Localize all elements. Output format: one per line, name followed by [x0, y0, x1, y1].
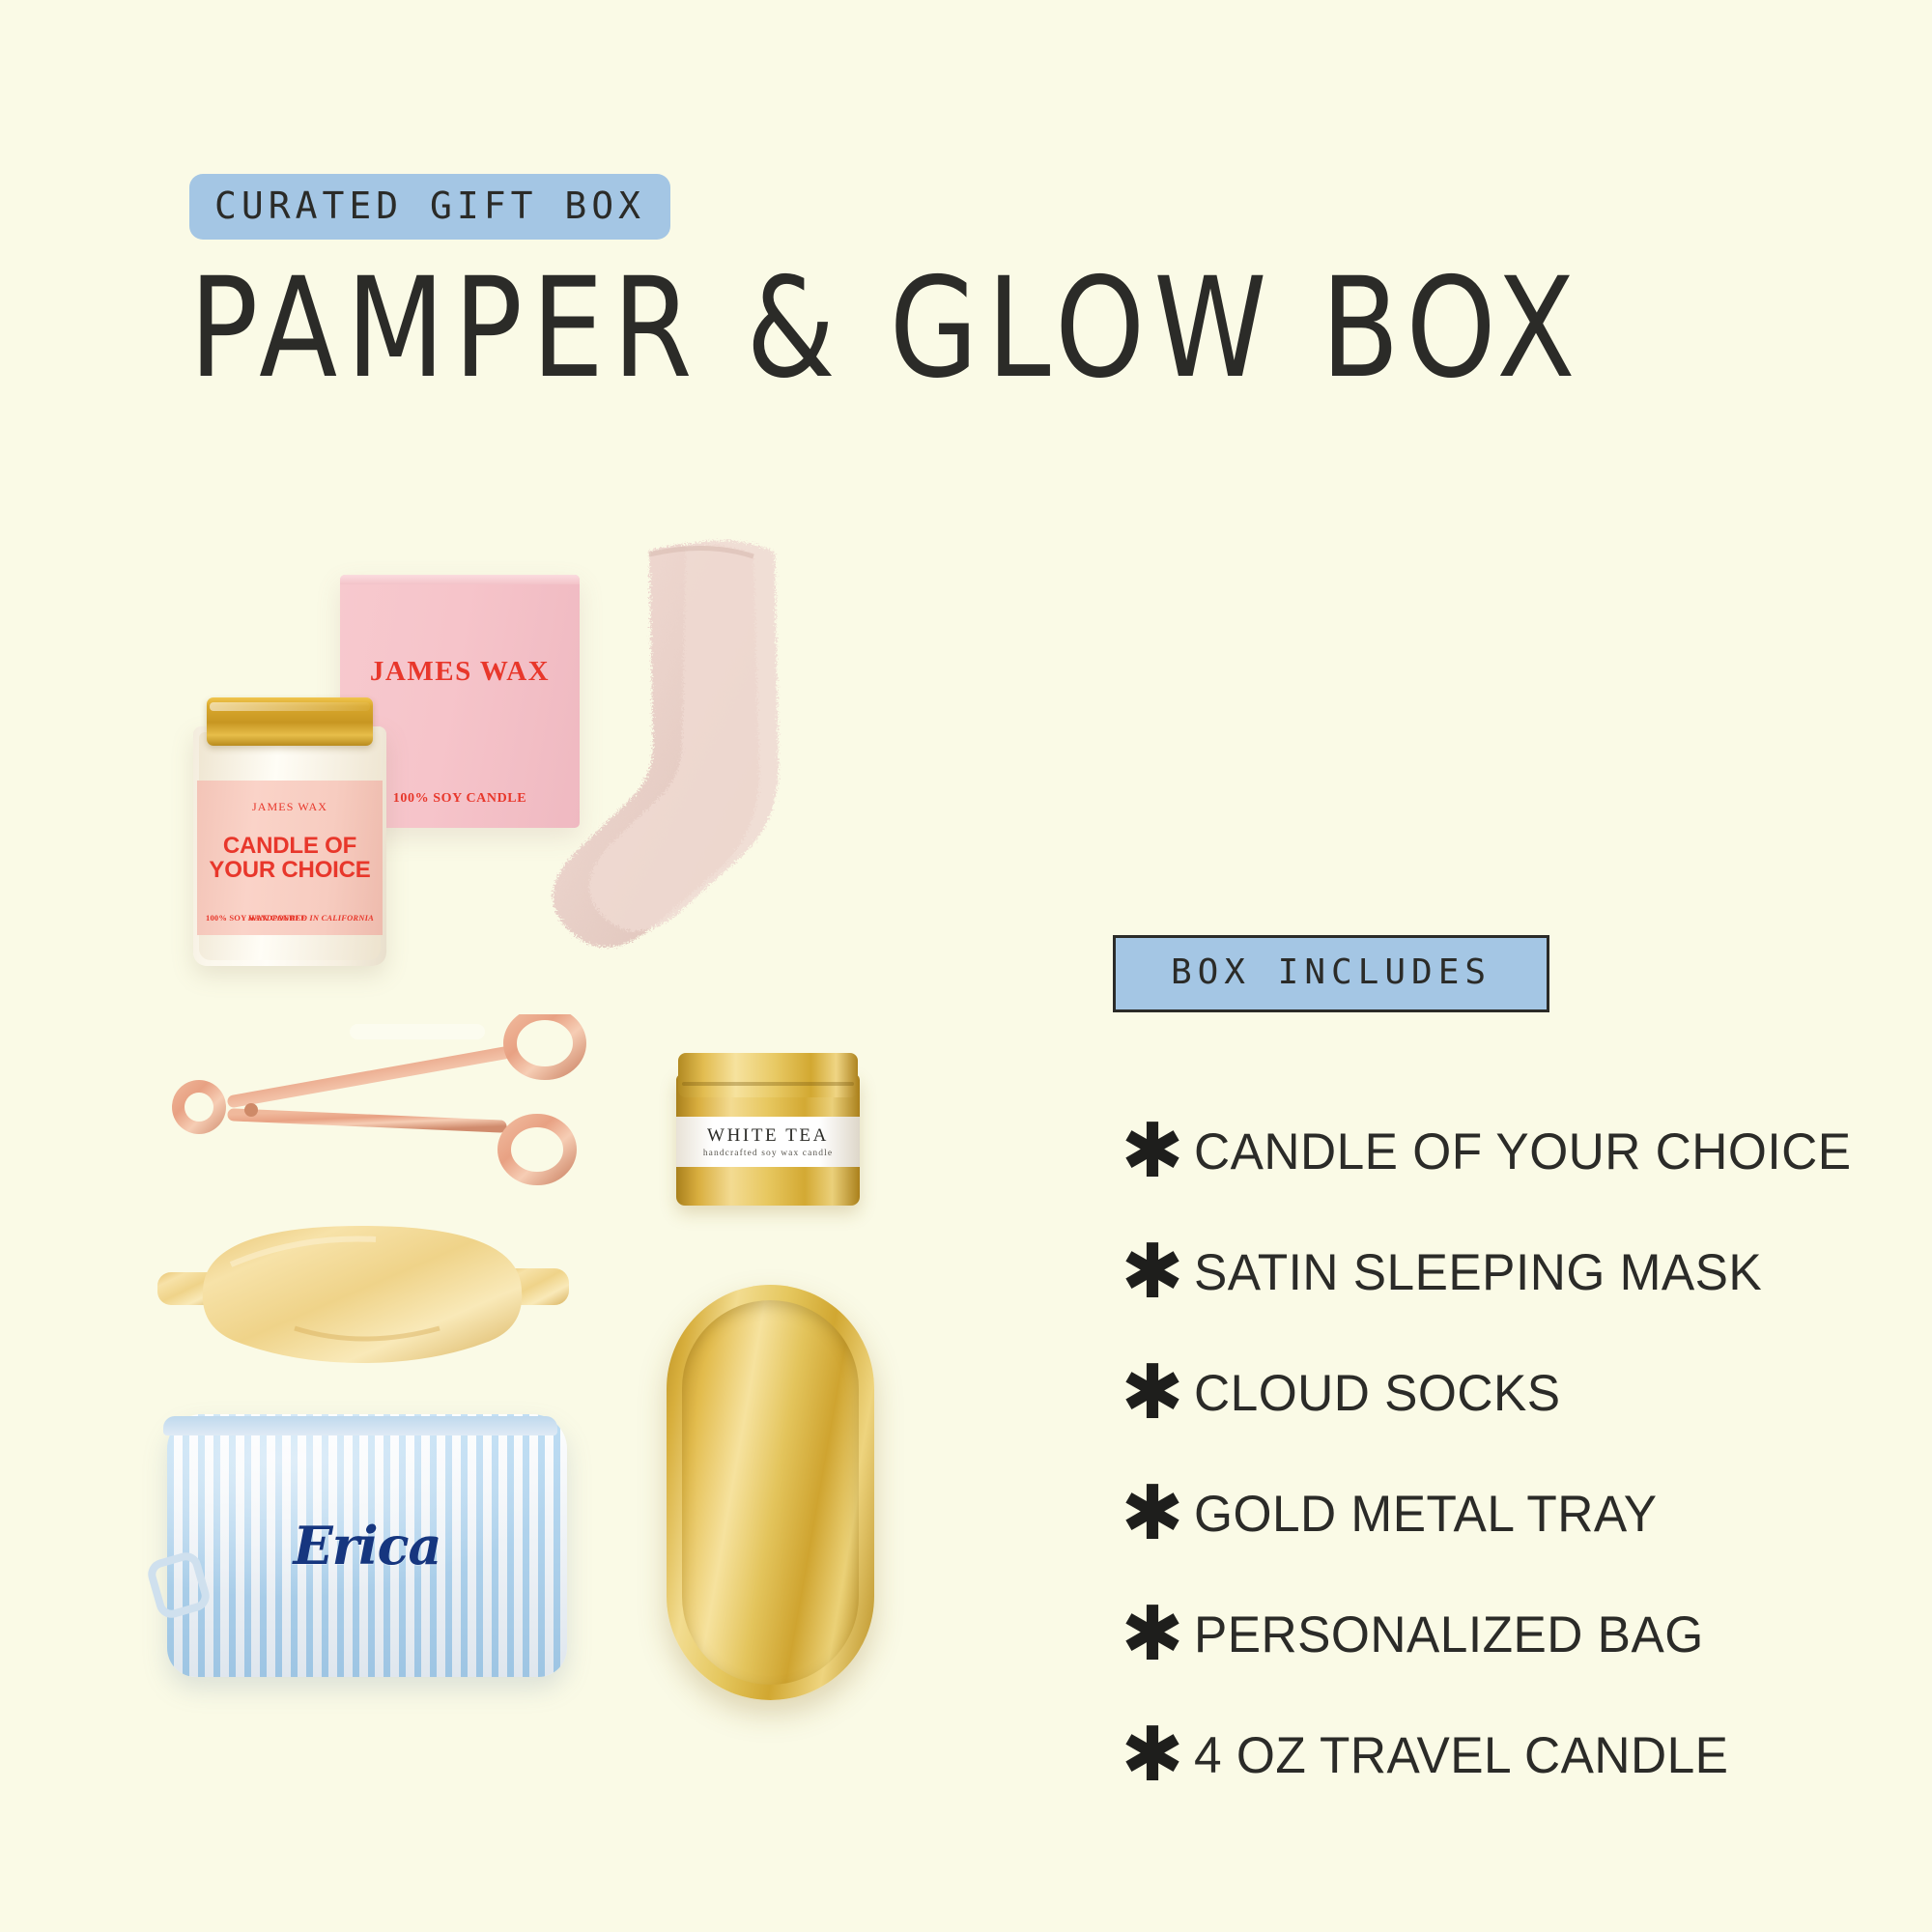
asterisk-icon: ✱: [1111, 1129, 1194, 1175]
tin-subtitle: handcrafted soy wax candle: [676, 1149, 860, 1158]
list-item-label: CLOUD SOCKS: [1194, 1364, 1561, 1423]
list-item-label: 4 OZ TRAVEL CANDLE: [1194, 1726, 1728, 1785]
tin-lid: [678, 1053, 858, 1097]
bag-embroidered-name: Erica: [150, 1515, 584, 1577]
tray-inner-well: [682, 1300, 859, 1685]
wick-trimmer-image: [145, 1014, 609, 1207]
list-item-label: SATIN SLEEPING MASK: [1194, 1243, 1762, 1302]
asterisk-icon: ✱: [1111, 1492, 1194, 1537]
jar-headline-line1: CANDLE OF: [223, 833, 356, 859]
personalized-bag-image: Erica: [150, 1401, 584, 1690]
eyebrow-badge: CURATED GIFT BOX: [189, 174, 670, 240]
list-item-label: CANDLE OF YOUR CHOICE: [1194, 1122, 1852, 1181]
box-includes-list: ✱ CANDLE OF YOUR CHOICE ✱ SATIN SLEEPING…: [1111, 1092, 1884, 1816]
jar-footnote-right: HANDPOURED IN CALIFORNIA: [248, 913, 374, 923]
tin-scent-name: WHITE TEA: [676, 1125, 860, 1147]
list-item-label: GOLD METAL TRAY: [1194, 1485, 1658, 1544]
list-item: ✱ CLOUD SOCKS: [1111, 1333, 1884, 1454]
tray-outer: [667, 1285, 874, 1700]
page-title: PAMPER & GLOW BOX: [189, 259, 1584, 397]
sleep-mask-illustration: [150, 1212, 575, 1367]
wick-trimmer-illustration: [145, 1014, 609, 1207]
list-item: ✱ 4 OZ TRAVEL CANDLE: [1111, 1695, 1884, 1816]
jar-label-headline: CANDLE OF YOUR CHOICE: [197, 834, 383, 883]
jar-headline-line2: YOUR CHOICE: [209, 857, 370, 883]
candle-jar: JAMES WAX CANDLE OF YOUR CHOICE 100% SOY…: [193, 676, 386, 966]
cloud-socks-image: [541, 522, 850, 1063]
gold-tray-image: [667, 1285, 874, 1700]
poster-canvas: CURATED GIFT BOX PAMPER & GLOW BOX JAMES…: [0, 0, 1932, 1932]
asterisk-icon: ✱: [1111, 1371, 1194, 1416]
asterisk-icon: ✱: [1111, 1250, 1194, 1295]
list-item: ✱ CANDLE OF YOUR CHOICE: [1111, 1092, 1884, 1212]
travel-candle-tin: WHITE TEA handcrafted soy wax candle: [676, 1053, 860, 1207]
list-item-label: PERSONALIZED BAG: [1194, 1605, 1704, 1664]
box-includes-badge: BOX INCLUDES: [1113, 935, 1549, 1012]
tin-label: WHITE TEA handcrafted soy wax candle: [676, 1117, 860, 1167]
jar-label-brand: JAMES WAX: [197, 800, 383, 814]
jar-gold-lid: [207, 697, 373, 746]
bag-zipper: [163, 1416, 557, 1435]
list-item: ✱ SATIN SLEEPING MASK: [1111, 1212, 1884, 1333]
asterisk-icon: ✱: [1111, 1733, 1194, 1778]
jar-label: JAMES WAX CANDLE OF YOUR CHOICE 100% SOY…: [197, 781, 383, 935]
list-item: ✱ PERSONALIZED BAG: [1111, 1575, 1884, 1695]
asterisk-icon: ✱: [1111, 1612, 1194, 1658]
sleep-mask-image: [150, 1212, 575, 1367]
list-item: ✱ GOLD METAL TRAY: [1111, 1454, 1884, 1575]
socks-illustration: [541, 522, 850, 1063]
